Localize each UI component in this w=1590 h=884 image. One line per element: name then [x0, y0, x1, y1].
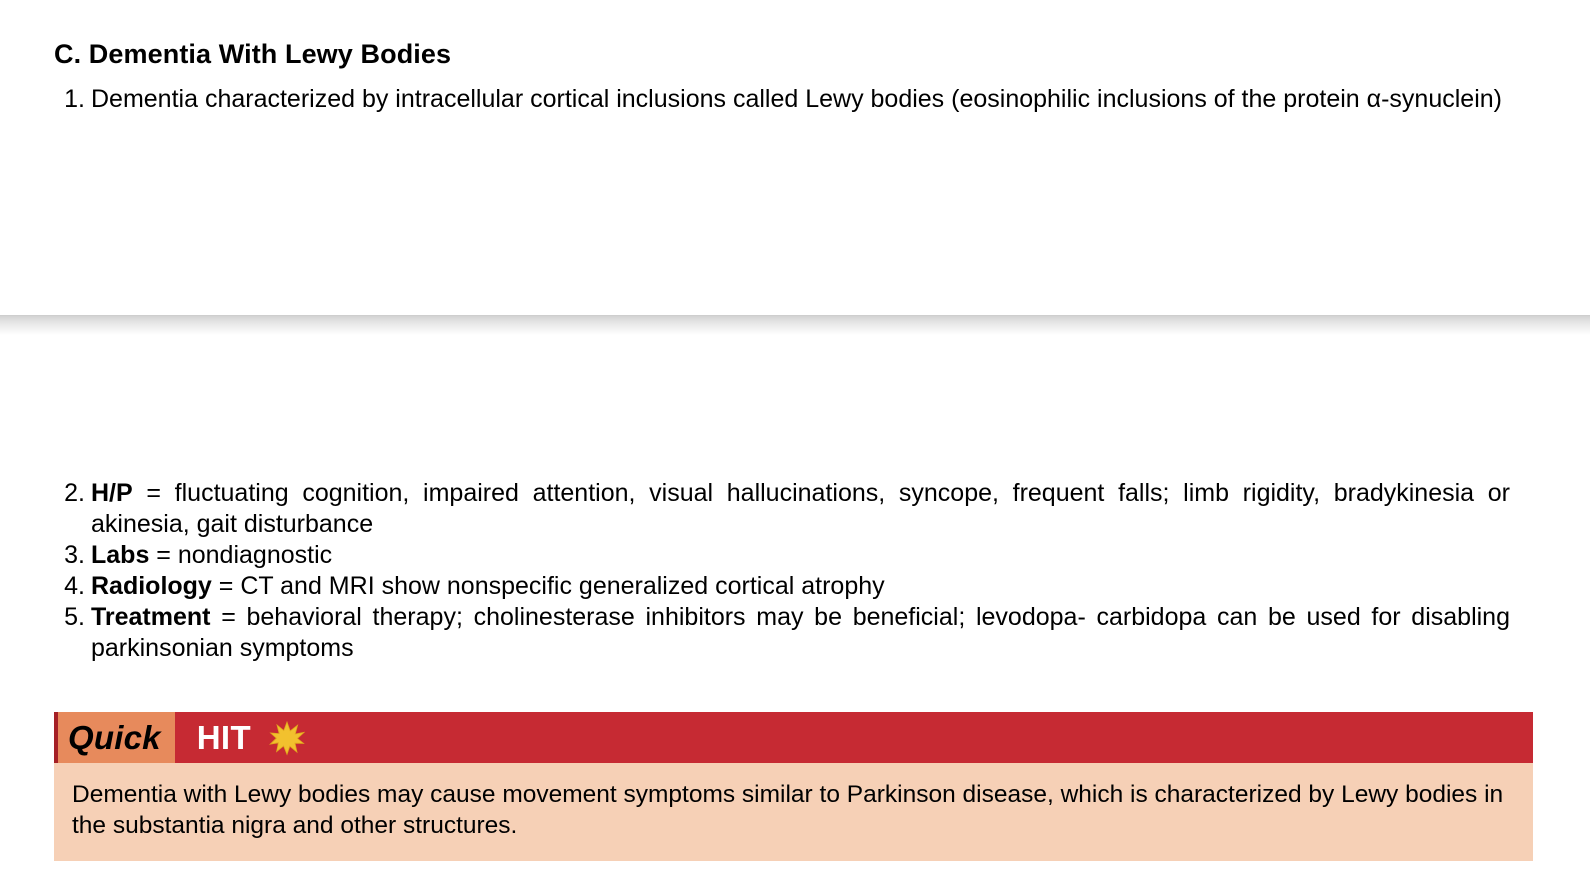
list-item-text: = fluctuating cognition, impaired attent…: [91, 479, 1510, 538]
quick-hit-header: Quick HIT: [54, 712, 1533, 763]
list-item-text: = CT and MRI show nonspecific generalize…: [212, 572, 885, 600]
outline-list-bottom: 2.H/P = fluctuating cognition, impaired …: [55, 478, 1510, 664]
list-item-lead: Radiology: [91, 572, 212, 600]
section-heading: C. Dementia With Lewy Bodies: [54, 38, 451, 70]
list-item-lead: H/P: [91, 479, 133, 507]
list-item: 5.Treatment = behavioral therapy; cholin…: [55, 602, 1510, 664]
list-item: 1.Dementia characterized by intracellula…: [55, 84, 1510, 115]
quick-hit-body-text: Dementia with Lewy bodies may cause move…: [54, 763, 1533, 861]
list-item-marker: 5.: [55, 602, 85, 633]
outline-list-top: 1.Dementia characterized by intracellula…: [55, 84, 1510, 115]
list-item: 4.Radiology = CT and MRI show nonspecifi…: [55, 571, 1510, 602]
starburst-icon: [269, 720, 305, 756]
page-break-divider: [0, 315, 1590, 335]
quick-hit-callout: Quick HIT Dementia with Lewy bodies may …: [54, 712, 1533, 861]
list-item-text: Dementia characterized by intracellular …: [91, 85, 1502, 113]
list-item: 2.H/P = fluctuating cognition, impaired …: [55, 478, 1510, 540]
page-bottom-block: 2.H/P = fluctuating cognition, impaired …: [0, 335, 1590, 884]
list-item-marker: 3.: [55, 540, 85, 571]
list-item-text: = behavioral therapy; cholinesterase inh…: [91, 603, 1510, 662]
page-top-block: C. Dementia With Lewy Bodies 1.Dementia …: [0, 0, 1590, 315]
list-item-marker: 4.: [55, 571, 85, 602]
list-item-lead: Labs: [91, 541, 149, 569]
list-item-lead: Treatment: [91, 603, 210, 631]
list-item-marker: 1.: [55, 84, 85, 115]
list-item-marker: 2.: [55, 478, 85, 509]
list-item-text: = nondiagnostic: [149, 541, 332, 569]
quick-hit-hit-label: HIT: [197, 712, 251, 763]
list-item: 3.Labs = nondiagnostic: [55, 540, 1510, 571]
quick-hit-quick-label: Quick: [58, 712, 175, 763]
